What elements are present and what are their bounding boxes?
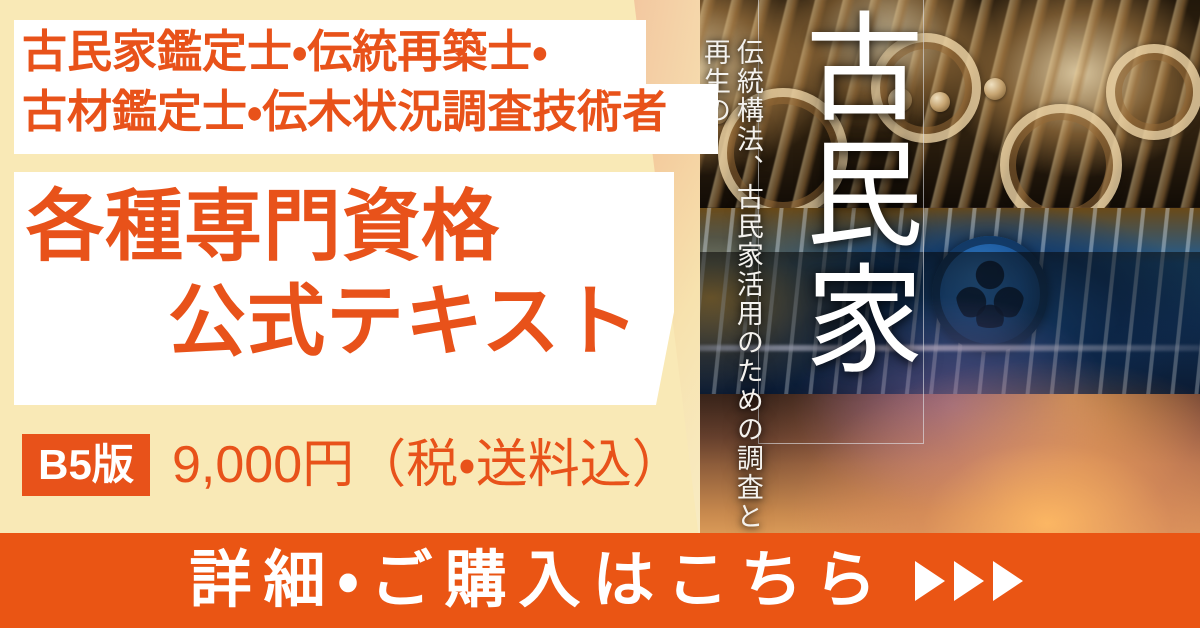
chevron-right-icon <box>954 561 984 601</box>
certifications-text: 古民家鑑定士・伝統再築士・ 古材鑑定士・伝木状況調査技術者 <box>22 22 722 142</box>
certifications-line-2: 古材鑑定士・伝木状況調査技術者 <box>22 82 722 142</box>
headline-line-2: 公式テキスト <box>168 281 640 362</box>
chevron-right-icon <box>915 561 945 601</box>
certifications-line-1: 古民家鑑定士・伝統再築士・ <box>22 22 722 82</box>
format-badge: B5版 <box>22 434 150 496</box>
price-text: 9,000円（税・送料込） <box>172 434 684 496</box>
cover-title: 古民家 <box>762 6 918 384</box>
cta-label: 詳細・ご購入はこちら <box>177 550 888 612</box>
cta-bar[interactable]: 詳細・ご購入はこちら <box>0 533 1200 628</box>
wood-knob <box>984 78 1006 100</box>
headline-line-1: 各種専門資格 <box>26 186 500 267</box>
wood-swirl-icon <box>1106 44 1200 140</box>
promo-banner: 伝統構法、古民家活用のための調査と再生の 古民家 古民家鑑定士・伝統再築士・ 古… <box>0 0 1200 628</box>
cta-inner: 詳細・ご購入はこちら <box>0 533 1200 628</box>
chevron-right-icon <box>993 561 1023 601</box>
wood-knob <box>930 92 950 112</box>
cta-arrows <box>915 561 1023 601</box>
